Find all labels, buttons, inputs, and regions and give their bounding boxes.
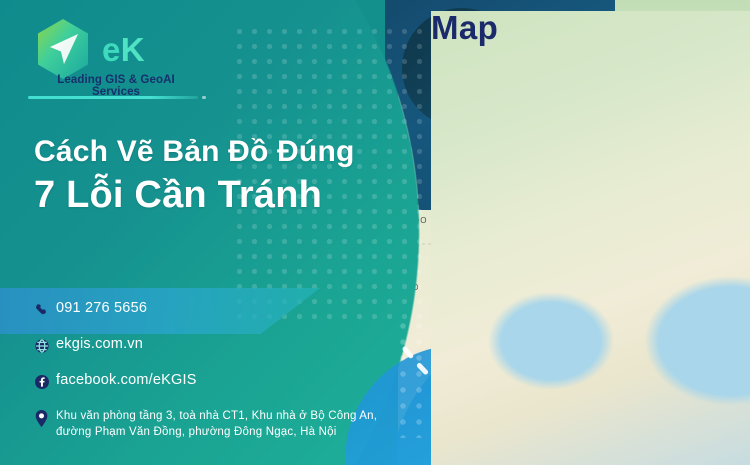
globe-icon: [34, 337, 56, 355]
contact-row-address[interactable]: Khu văn phòng tầng 3, toà nhà CT1, Khu n…: [34, 408, 434, 441]
brand-wordmark: eKMap: [102, 33, 145, 66]
hexagon-cursor-logo-icon: [33, 17, 93, 81]
brand-tagline: Leading GIS & GeoAI Services: [36, 74, 196, 98]
map-pin-icon: [34, 409, 56, 427]
contact-row-facebook[interactable]: facebook.com/eKGIS: [34, 372, 434, 391]
address-line-2: đường Phạm Văn Đồng, phường Đông Ngạc, H…: [56, 426, 337, 438]
brand-k: K: [121, 31, 145, 68]
website-url: ekgis.com.vn: [56, 336, 143, 353]
brand-map: Map: [431, 11, 750, 465]
phone-number: 091 276 5656: [56, 300, 147, 317]
facebook-icon: [34, 373, 56, 391]
address-text: Khu văn phòng tầng 3, toà nhà CT1, Khu n…: [56, 408, 377, 441]
headline-block: Cách Vẽ Bản Đồ Đúng 7 Lỗi Cần Tránh: [34, 134, 355, 217]
divider-dot: [202, 96, 206, 99]
contact-row-website[interactable]: ekgis.com.vn: [34, 336, 434, 355]
headline-line-1: Cách Vẽ Bản Đồ Đúng: [34, 134, 355, 169]
divider-line: [28, 96, 198, 99]
contact-block: 091 276 5656 ekgis.com.vn facebook.c: [34, 300, 434, 441]
brand-logo[interactable]: eKMap: [33, 17, 145, 81]
facebook-url: facebook.com/eKGIS: [56, 372, 197, 389]
address-line-1: Khu văn phòng tầng 3, toà nhà CT1, Khu n…: [56, 410, 377, 422]
phone-icon: [34, 301, 56, 319]
brand-e: e: [102, 31, 121, 68]
headline-line-2: 7 Lỗi Cần Tránh: [34, 175, 355, 217]
ekmap-promo-banner: ONTARIOQUEBECMINNESOTASOUTHDAKOTAWISCONS…: [0, 0, 750, 465]
contact-row-phone[interactable]: 091 276 5656: [34, 300, 434, 319]
